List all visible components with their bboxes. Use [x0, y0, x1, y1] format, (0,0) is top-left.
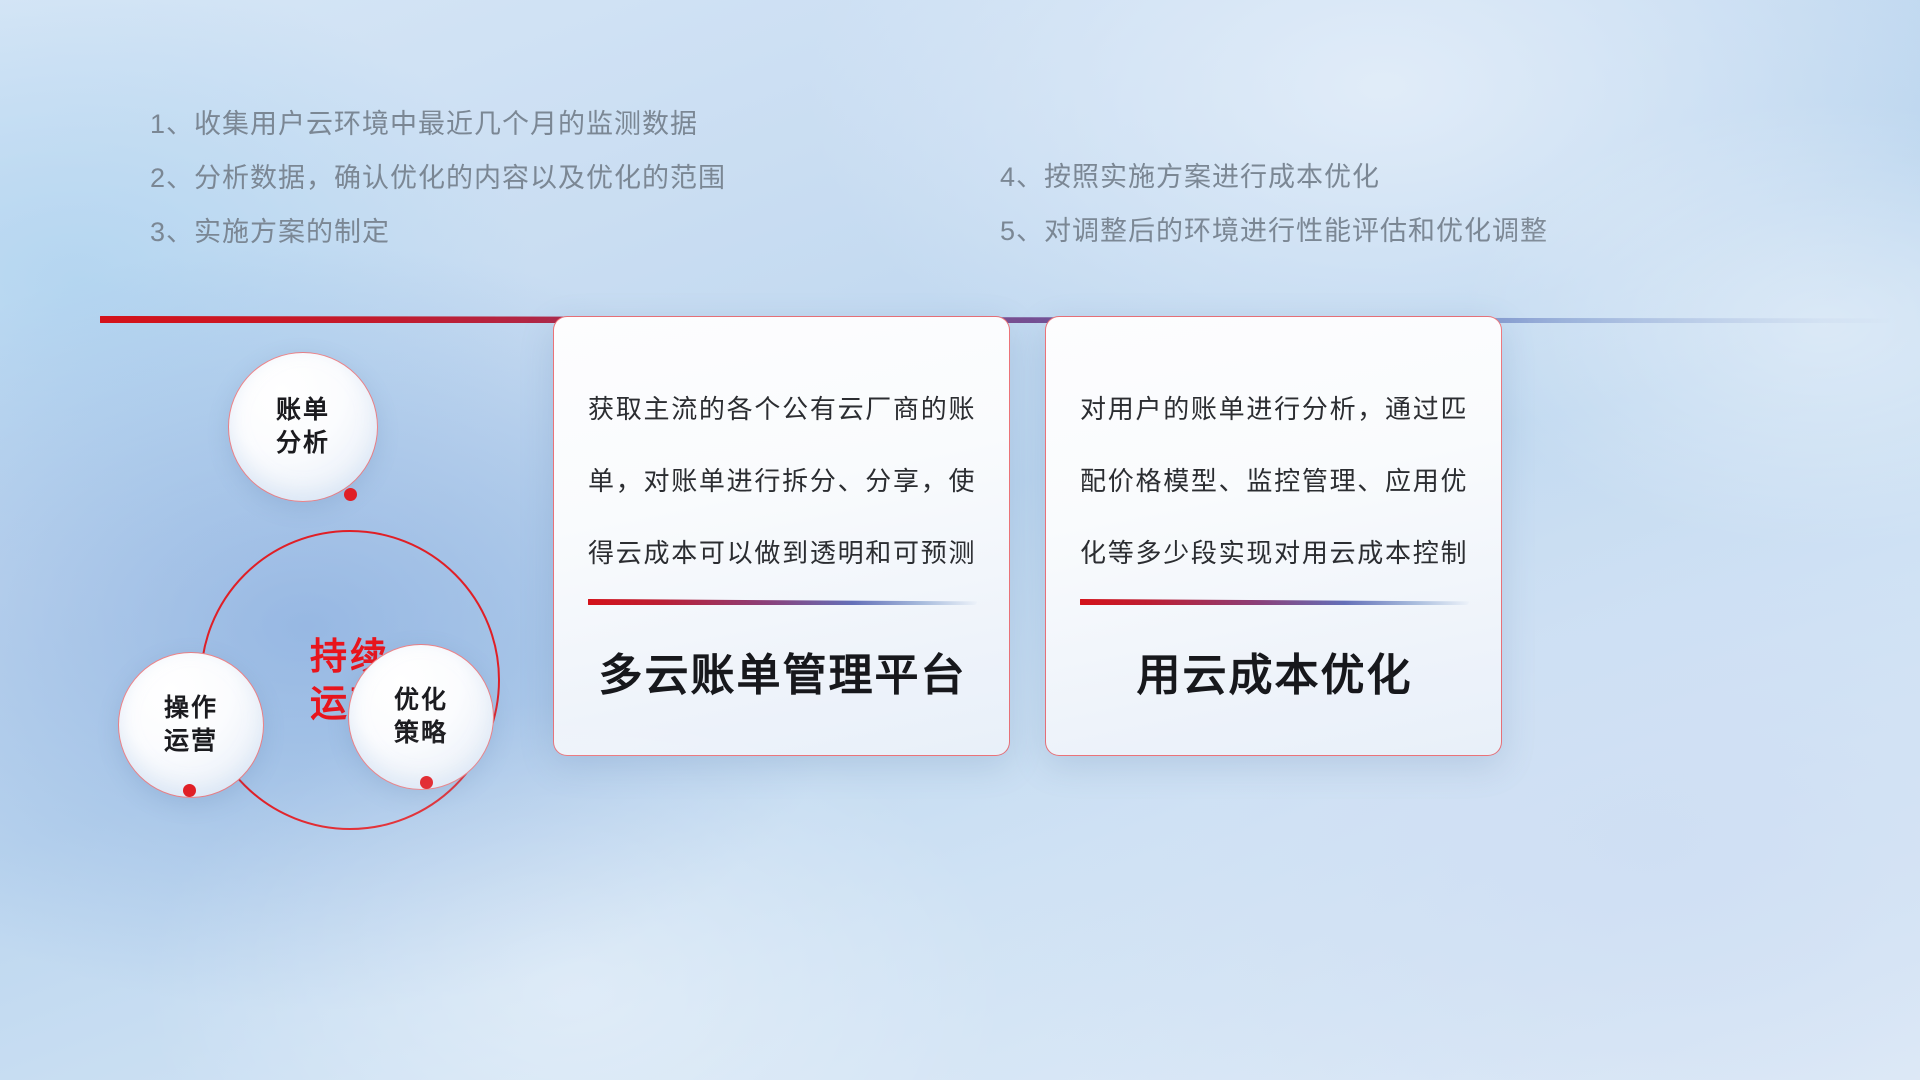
step-item-4: 4、按照实施方案进行成本优化	[1000, 150, 1548, 204]
card-2-title: 用云成本优化	[1080, 647, 1469, 705]
card-1-body-line1: 获取主流的各个公有云厂商的账	[588, 373, 975, 445]
bubble-optimization-strategy-line1: 优化	[394, 684, 448, 717]
card-2-body: 对用户的账单进行分析，通过匹 配价格模型、监控管理、应用优 化等多少段实现对用云…	[1080, 373, 1467, 589]
steps-list-left: 1、收集用户云环境中最近几个月的监测数据 2、分析数据，确认优化的内容以及优化的…	[150, 97, 726, 259]
bubble-operations-line2: 运营	[164, 725, 218, 758]
card-2-rule	[1080, 599, 1469, 605]
node-dot-right-icon	[420, 776, 433, 789]
card-1-body-line3: 得云成本可以做到透明和可预测	[588, 517, 975, 589]
card-1-title: 多云账单管理平台	[588, 647, 977, 705]
bubble-optimization-strategy-line2: 策略	[394, 717, 448, 750]
step-item-2: 2、分析数据，确认优化的内容以及优化的范围	[150, 151, 726, 205]
card-cloud-cost-optimization[interactable]: 对用户的账单进行分析，通过匹 配价格模型、监控管理、应用优 化等多少段实现对用云…	[1045, 316, 1502, 756]
bubble-bill-analysis-line2: 分析	[276, 427, 330, 460]
bubble-operations-line1: 操作	[164, 692, 218, 725]
bubble-optimization-strategy-label: 优化 策略	[394, 684, 448, 750]
node-dot-top-icon	[344, 488, 357, 501]
bubble-operations[interactable]: 操作 运营	[118, 652, 264, 798]
card-multi-cloud-bill-platform[interactable]: 获取主流的各个公有云厂商的账 单，对账单进行拆分、分享，使 得云成本可以做到透明…	[553, 316, 1010, 756]
bubble-bill-analysis-line1: 账单	[276, 394, 330, 427]
step-item-5: 5、对调整后的环境进行性能评估和优化调整	[1000, 204, 1548, 258]
slide-canvas: 1、收集用户云环境中最近几个月的监测数据 2、分析数据，确认优化的内容以及优化的…	[0, 0, 1920, 1080]
bubble-optimization-strategy[interactable]: 优化 策略	[348, 644, 494, 790]
card-1-body: 获取主流的各个公有云厂商的账 单，对账单进行拆分、分享，使 得云成本可以做到透明…	[588, 373, 975, 589]
card-1-body-line2: 单，对账单进行拆分、分享，使	[588, 445, 975, 517]
node-dot-left-icon	[183, 784, 196, 797]
step-item-1: 1、收集用户云环境中最近几个月的监测数据	[150, 97, 726, 151]
card-2-body-line1: 对用户的账单进行分析，通过匹	[1080, 373, 1467, 445]
card-1-rule	[588, 599, 977, 605]
card-2-body-line2: 配价格模型、监控管理、应用优	[1080, 445, 1467, 517]
card-2-body-line3: 化等多少段实现对用云成本控制	[1080, 517, 1467, 589]
bubble-operations-label: 操作 运营	[164, 692, 218, 758]
bubble-bill-analysis-label: 账单 分析	[276, 394, 330, 460]
bubble-bill-analysis[interactable]: 账单 分析	[228, 352, 378, 502]
steps-list-right: 4、按照实施方案进行成本优化 5、对调整后的环境进行性能评估和优化调整	[1000, 150, 1548, 258]
step-item-3: 3、实施方案的制定	[150, 205, 726, 259]
